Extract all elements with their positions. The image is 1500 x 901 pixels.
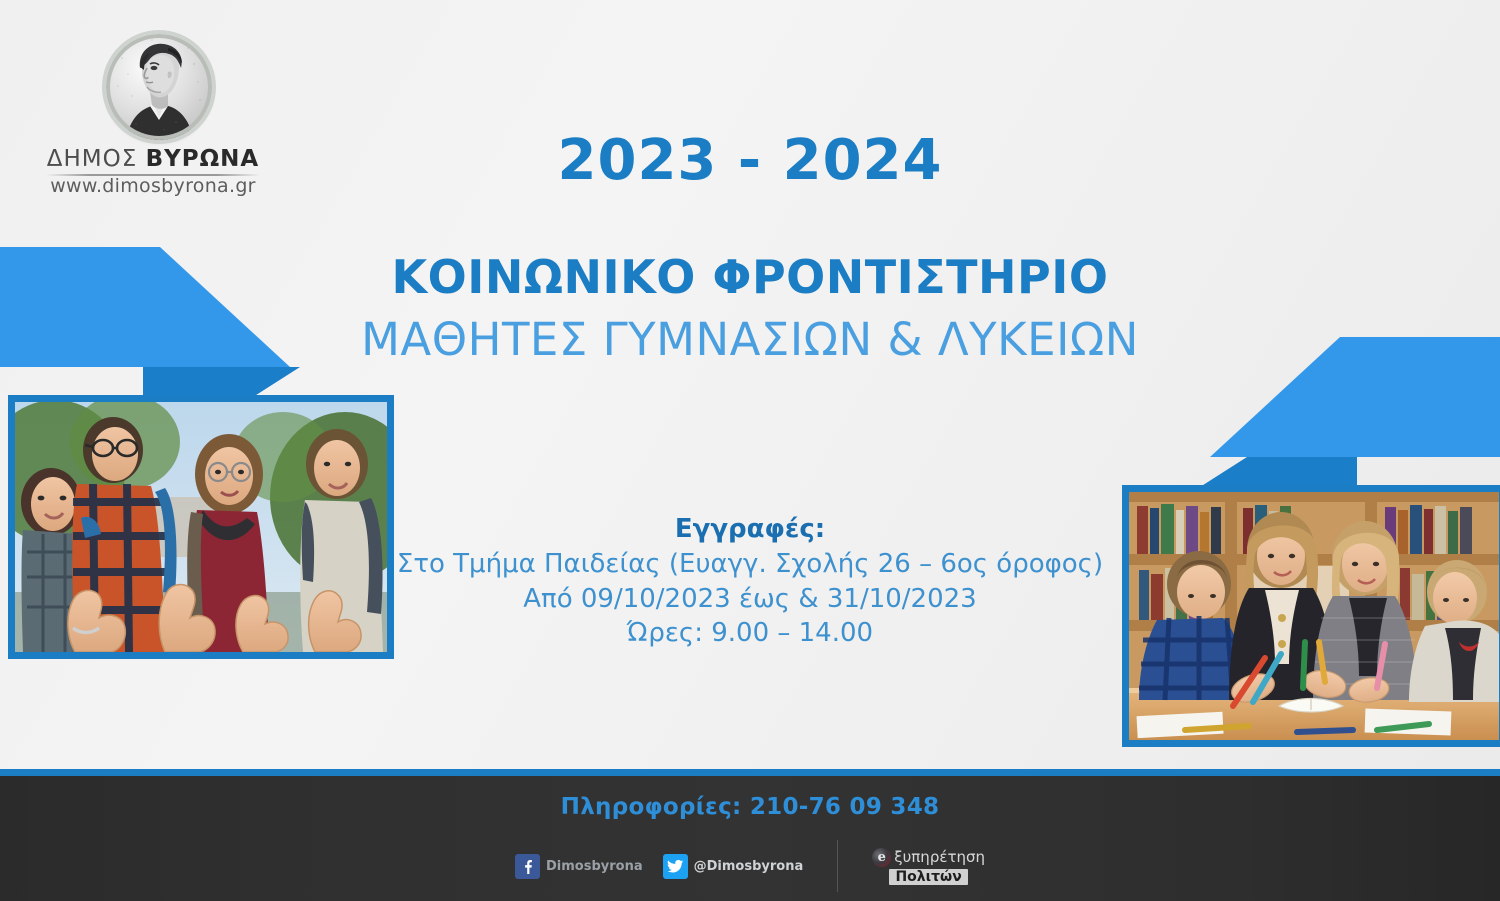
e-service-icon: e	[872, 848, 891, 867]
footer: Πληροφορίες: 210-76 09 348 Dimosbyrona @…	[0, 776, 1500, 901]
contact-info: Πληροφορίες: 210-76 09 348	[0, 794, 1500, 820]
facebook-link[interactable]: Dimosbyrona	[515, 854, 643, 879]
arrow-right-top-shape	[1210, 337, 1500, 457]
registration-dates: Από 09/10/2023 έως & 31/10/2023	[0, 582, 1500, 617]
arrow-right-pointing-decoration	[0, 247, 300, 397]
twitter-link[interactable]: @Dimosbyrona	[663, 854, 804, 879]
social-links: Dimosbyrona @Dimosbyrona e ξυπηρέτηση Πο…	[0, 840, 1500, 892]
e-service-link[interactable]: e ξυπηρέτηση Πολιτών	[872, 848, 985, 885]
arrow-left-top-shape	[0, 247, 290, 367]
twitter-icon	[663, 854, 688, 879]
poster-canvas: ΔΗΜΟΣ ΒΥΡΩΝΑ www.dimosbyrona.gr 2023 - 2…	[0, 0, 1500, 901]
arrow-right-bottom-shape	[1200, 457, 1357, 487]
school-year-title: 2023 - 2024	[0, 128, 1500, 193]
facebook-icon	[515, 854, 540, 879]
e-service-label-line2: Πολιτών	[889, 869, 967, 885]
byron-portrait-icon	[106, 34, 212, 140]
registration-heading: Εγγραφές:	[0, 512, 1500, 547]
footer-accent-bar	[0, 769, 1500, 776]
registration-place: Στο Τμήμα Παιδείας (Ευαγγ. Σχολής 26 – 6…	[0, 547, 1500, 582]
e-service-label-line1: ξυπηρέτηση	[894, 848, 985, 866]
footer-divider	[837, 840, 838, 892]
registration-info: Εγγραφές: Στο Τμήμα Παιδείας (Ευαγγ. Σχο…	[0, 512, 1500, 651]
arrow-left-bottom-shape	[143, 367, 300, 397]
facebook-handle: Dimosbyrona	[546, 859, 643, 874]
registration-hours: Ώρες: 9.00 – 14.00	[0, 616, 1500, 651]
arrow-left-pointing-decoration	[1200, 337, 1500, 487]
twitter-handle: @Dimosbyrona	[694, 859, 804, 874]
